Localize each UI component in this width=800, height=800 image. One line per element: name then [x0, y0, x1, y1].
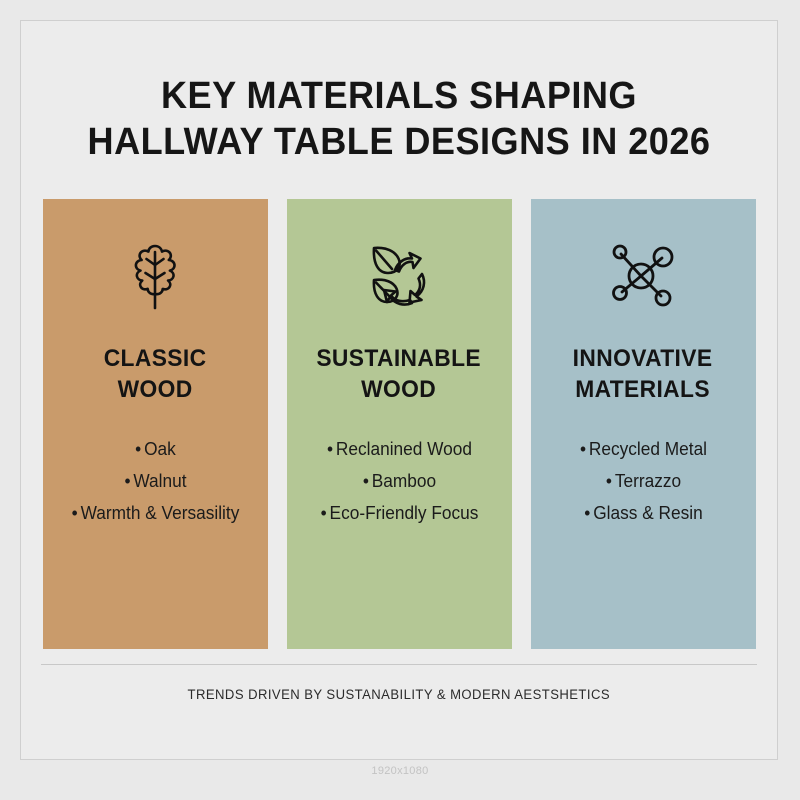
recycling-leaves-icon — [365, 233, 433, 319]
bullet-glyph: • — [320, 503, 326, 523]
panel-innovative-materials[interactable]: INNOVATIVE MATERIALS •Recycled Metal •Te… — [531, 199, 756, 649]
list-item-label: Warmth & Versasility — [80, 503, 239, 523]
panel-heading-innovative-materials: INNOVATIVE MATERIALS — [573, 343, 713, 405]
list-item: •Oak — [55, 433, 256, 465]
panel-heading-line-1: CLASSIC — [104, 343, 207, 374]
panel-list-innovative-materials: •Recycled Metal •Terrazzo •Glass & Resin — [539, 433, 748, 529]
panel-heading-line-2: WOOD — [104, 374, 207, 405]
panel-list-sustainable-wood: •Reclanined Wood •Bamboo •Eco-Friendly F… — [295, 433, 504, 529]
molecule-network-icon — [607, 233, 679, 319]
list-item-label: Terrazzo — [614, 471, 680, 491]
oak-leaf-icon — [124, 233, 186, 319]
bullet-glyph: • — [584, 503, 590, 523]
bullet-glyph: • — [362, 471, 368, 491]
dimension-label: 1920x1080 — [0, 765, 800, 777]
title-line-1: KEY MATERIALS SHAPING — [57, 73, 741, 119]
list-item: •Warmth & Versasility — [55, 497, 256, 529]
list-item: •Terrazzo — [543, 465, 744, 497]
panel-heading-line-2: WOOD — [317, 374, 482, 405]
list-item-label: Glass & Resin — [593, 503, 702, 523]
bullet-glyph: • — [326, 439, 332, 459]
page-title: KEY MATERIALS SHAPING HALLWAY TABLE DESI… — [21, 73, 777, 165]
material-panels: CLASSIC WOOD •Oak •Walnut •Warmth & Vers… — [43, 199, 756, 649]
list-item: •Recycled Metal — [543, 433, 744, 465]
bullet-glyph: • — [135, 439, 141, 459]
panel-heading-sustainable-wood: SUSTAINABLE WOOD — [317, 343, 482, 405]
panel-heading-line-2: MATERIALS — [573, 374, 713, 405]
panel-heading-line-1: SUSTAINABLE — [317, 343, 482, 374]
bullet-glyph: • — [579, 439, 585, 459]
panel-classic-wood[interactable]: CLASSIC WOOD •Oak •Walnut •Warmth & Vers… — [43, 199, 268, 649]
list-item-label: Oak — [144, 439, 176, 459]
bullet-glyph: • — [605, 471, 611, 491]
title-line-2: HALLWAY TABLE DESIGNS IN 2026 — [57, 119, 741, 165]
list-item: •Eco-Friendly Focus — [299, 497, 500, 529]
panel-heading-line-1: INNOVATIVE — [573, 343, 713, 374]
list-item-label: Walnut — [133, 471, 186, 491]
list-item: •Reclanined Wood — [299, 433, 500, 465]
panel-sustainable-wood[interactable]: SUSTAINABLE WOOD •Reclanined Wood •Bambo… — [287, 199, 512, 649]
panel-heading-classic-wood: CLASSIC WOOD — [104, 343, 207, 405]
list-item: •Walnut — [55, 465, 256, 497]
list-item-label: Reclanined Wood — [335, 439, 471, 459]
bullet-glyph: • — [71, 503, 77, 523]
list-item: •Bamboo — [299, 465, 500, 497]
bullet-glyph: • — [124, 471, 130, 491]
footer-note: TRENDS DRIVEN BY SUSTANABILITY & MODERN … — [188, 687, 610, 702]
poster-content: KEY MATERIALS SHAPING HALLWAY TABLE DESI… — [21, 21, 777, 759]
list-item-label: Bamboo — [371, 471, 435, 491]
list-item-label: Recycled Metal — [588, 439, 706, 459]
panel-list-classic-wood: •Oak •Walnut •Warmth & Versasility — [51, 433, 260, 529]
footer-divider — [41, 664, 757, 665]
list-item: •Glass & Resin — [543, 497, 744, 529]
list-item-label: Eco-Friendly Focus — [329, 503, 478, 523]
infographic-canvas: KEY MATERIALS SHAPING HALLWAY TABLE DESI… — [0, 0, 800, 800]
